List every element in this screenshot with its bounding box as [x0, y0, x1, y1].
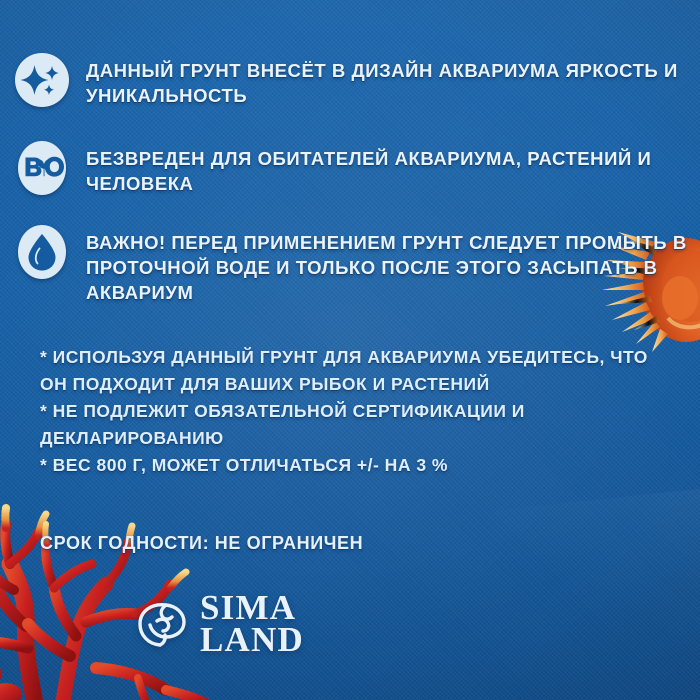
fineprint-note-certification: * НЕ ПОДЛЕЖИТ ОБЯЗАТЕЛЬНОЙ СЕРТИФИКАЦИИ … [40, 398, 680, 452]
bio-icon [14, 140, 70, 196]
feature-item-brightness: ДАННЫЙ ГРУНТ ВНЕСЁТ В ДИЗАЙН АКВАРИУМА Я… [14, 52, 696, 108]
fineprint-note-weight: * ВЕС 800 Г, МОЖЕТ ОТЛИЧАТЬСЯ +/- НА 3 % [40, 452, 680, 479]
dolphin-icon [136, 597, 188, 651]
fineprint-note-suitability: * ИСПОЛЬЗУЯ ДАННЫЙ ГРУНТ ДЛЯ АКВАРИУМА У… [40, 344, 680, 398]
shelf-life-text: СРОК ГОДНОСТИ: НЕ ОГРАНИЧЕН [40, 533, 363, 554]
feature-item-rinse-warning: ВАЖНО! ПЕРЕД ПРИМЕНЕНИЕМ ГРУНТ СЛЕДУЕТ П… [14, 224, 696, 305]
water-drop-icon [14, 224, 70, 280]
fineprint-block: * ИСПОЛЬЗУЯ ДАННЫЙ ГРУНТ ДЛЯ АКВАРИУМА У… [40, 344, 680, 479]
feature-text: ДАННЫЙ ГРУНТ ВНЕСЁТ В ДИЗАЙН АКВАРИУМА Я… [86, 52, 696, 108]
brand-logo: SIMA LAND [136, 592, 304, 656]
packaging-back-panel: ДАННЫЙ ГРУНТ ВНЕСЁТ В ДИЗАЙН АКВАРИУМА Я… [0, 0, 700, 700]
brand-wordmark: SIMA LAND [200, 592, 304, 656]
sparkle-icon [14, 52, 70, 108]
feature-text: БЕЗВРЕДЕН ДЛЯ ОБИТАТЕЛЕЙ АКВАРИУМА, РАСТ… [86, 140, 696, 196]
feature-item-bio-safe: БЕЗВРЕДЕН ДЛЯ ОБИТАТЕЛЕЙ АКВАРИУМА, РАСТ… [14, 140, 696, 196]
brand-line-2: LAND [200, 624, 304, 656]
feature-text: ВАЖНО! ПЕРЕД ПРИМЕНЕНИЕМ ГРУНТ СЛЕДУЕТ П… [86, 224, 696, 305]
